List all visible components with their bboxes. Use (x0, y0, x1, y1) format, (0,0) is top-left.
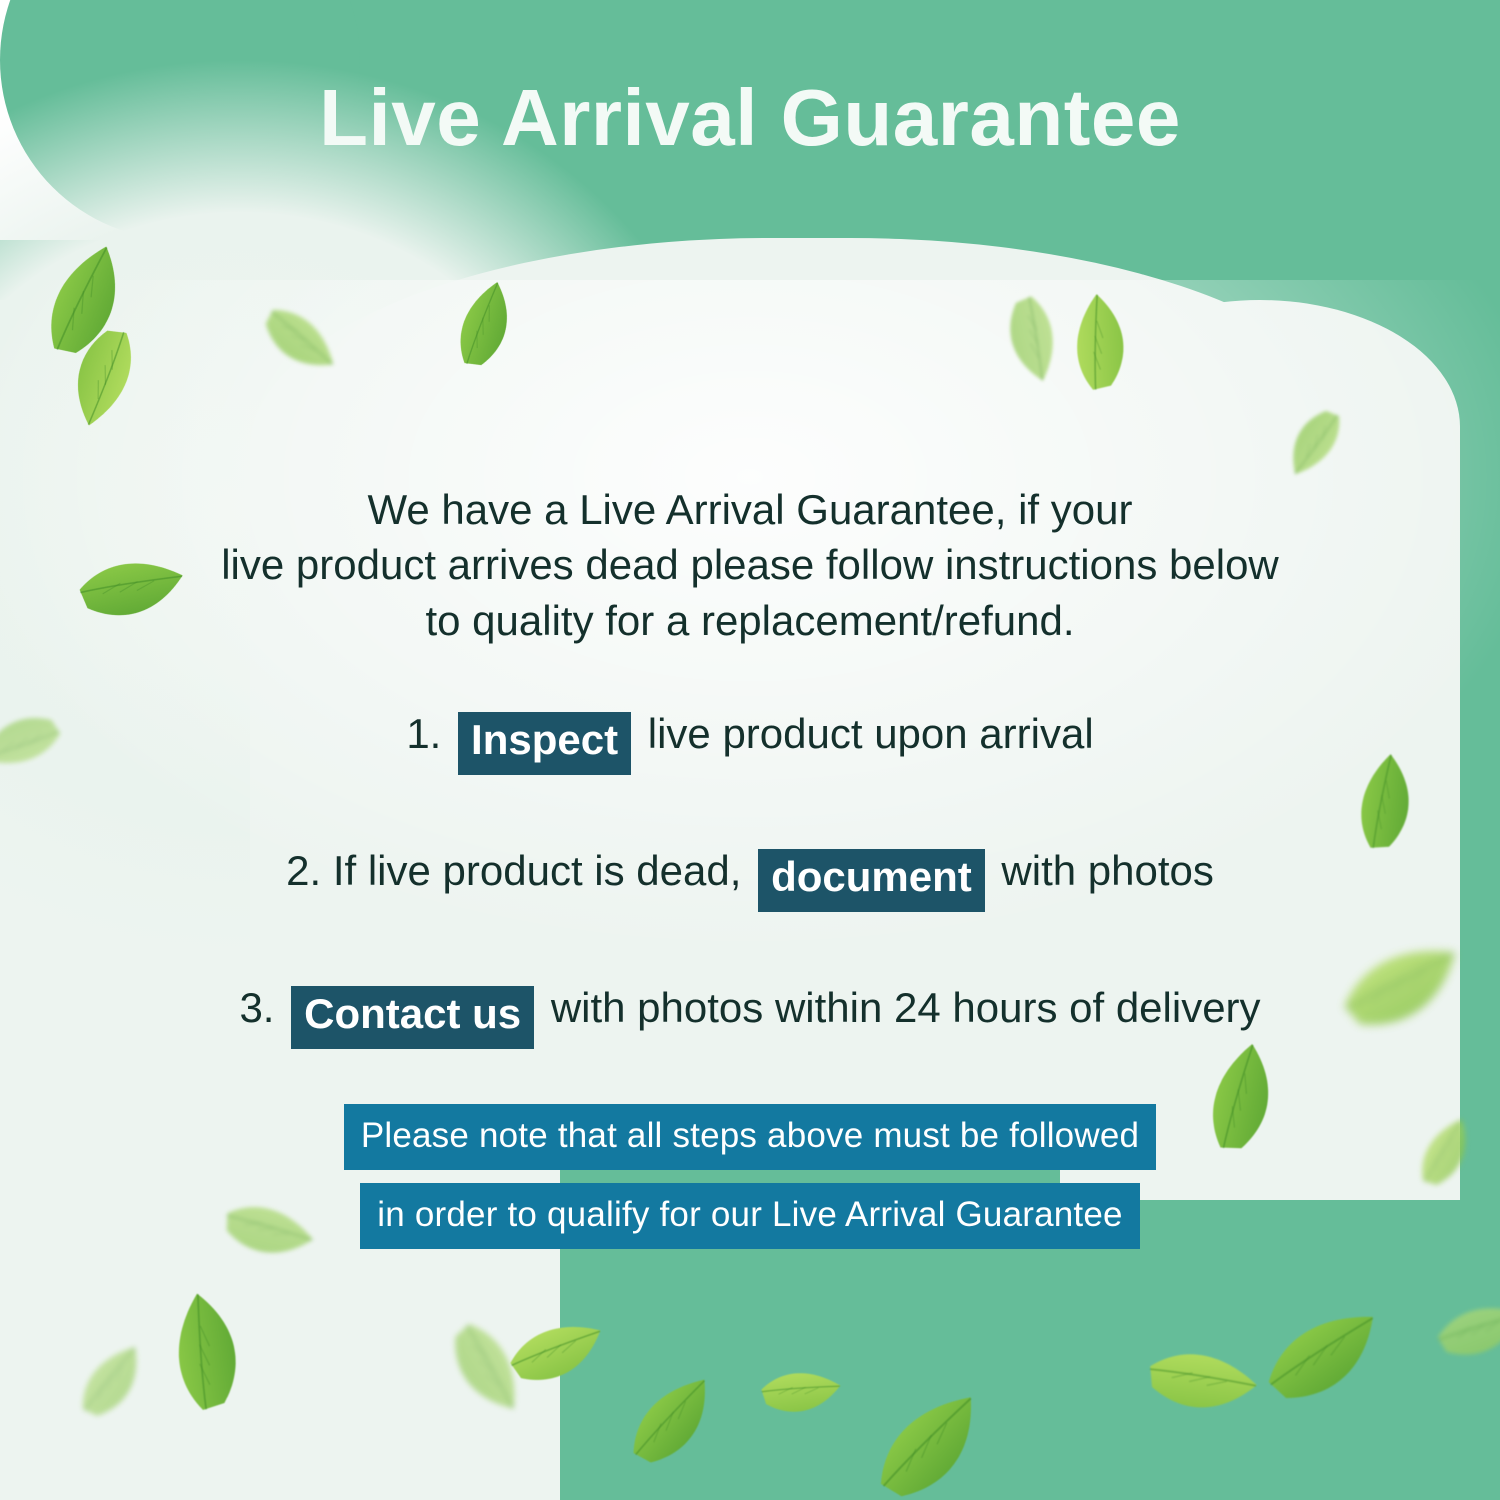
step-number-2: 2. (286, 847, 321, 894)
step-highlight-inspect[interactable]: Inspect (458, 712, 631, 775)
step-text-1: live product upon arrival (648, 710, 1094, 757)
footer-note-line-1: Please note that all steps above must be… (344, 1104, 1156, 1170)
footer-note-line-2: in order to qualify for our Live Arrival… (360, 1183, 1139, 1249)
step-item-1: 1. Inspect live product upon arrival (0, 706, 1500, 769)
step-number-3: 3. (239, 984, 274, 1031)
step-item-2: 2. If live product is dead, document wit… (0, 843, 1500, 906)
footer-note-row-1: Please note that all steps above must be… (0, 1104, 1500, 1170)
footer-note-row-2: in order to qualify for our Live Arrival… (0, 1183, 1500, 1249)
step-text-3: with photos within 24 hours of delivery (551, 984, 1261, 1031)
step-highlight-contact-us[interactable]: Contact us (291, 986, 534, 1049)
step-number-1: 1. (406, 710, 441, 757)
footer-notes: Please note that all steps above must be… (0, 1104, 1500, 1249)
step-text-2-before: If live product is dead, (333, 847, 742, 894)
step-item-3: 3. Contact us with photos within 24 hour… (0, 980, 1500, 1043)
live-arrival-guarantee-graphic: Live Arrival Guarantee We have a Live Ar… (0, 0, 1500, 1500)
intro-line-3: to quality for a replacement/refund. (130, 593, 1370, 648)
steps-list: 1. Inspect live product upon arrival 2. … (0, 706, 1500, 1043)
intro-line-1: We have a Live Arrival Guarantee, if you… (130, 482, 1370, 537)
step-text-2-after: with photos (1001, 847, 1213, 894)
page-title: Live Arrival Guarantee (0, 78, 1500, 158)
step-highlight-document[interactable]: document (758, 849, 985, 912)
intro-paragraph: We have a Live Arrival Guarantee, if you… (130, 482, 1370, 648)
intro-line-2: live product arrives dead please follow … (130, 537, 1370, 592)
